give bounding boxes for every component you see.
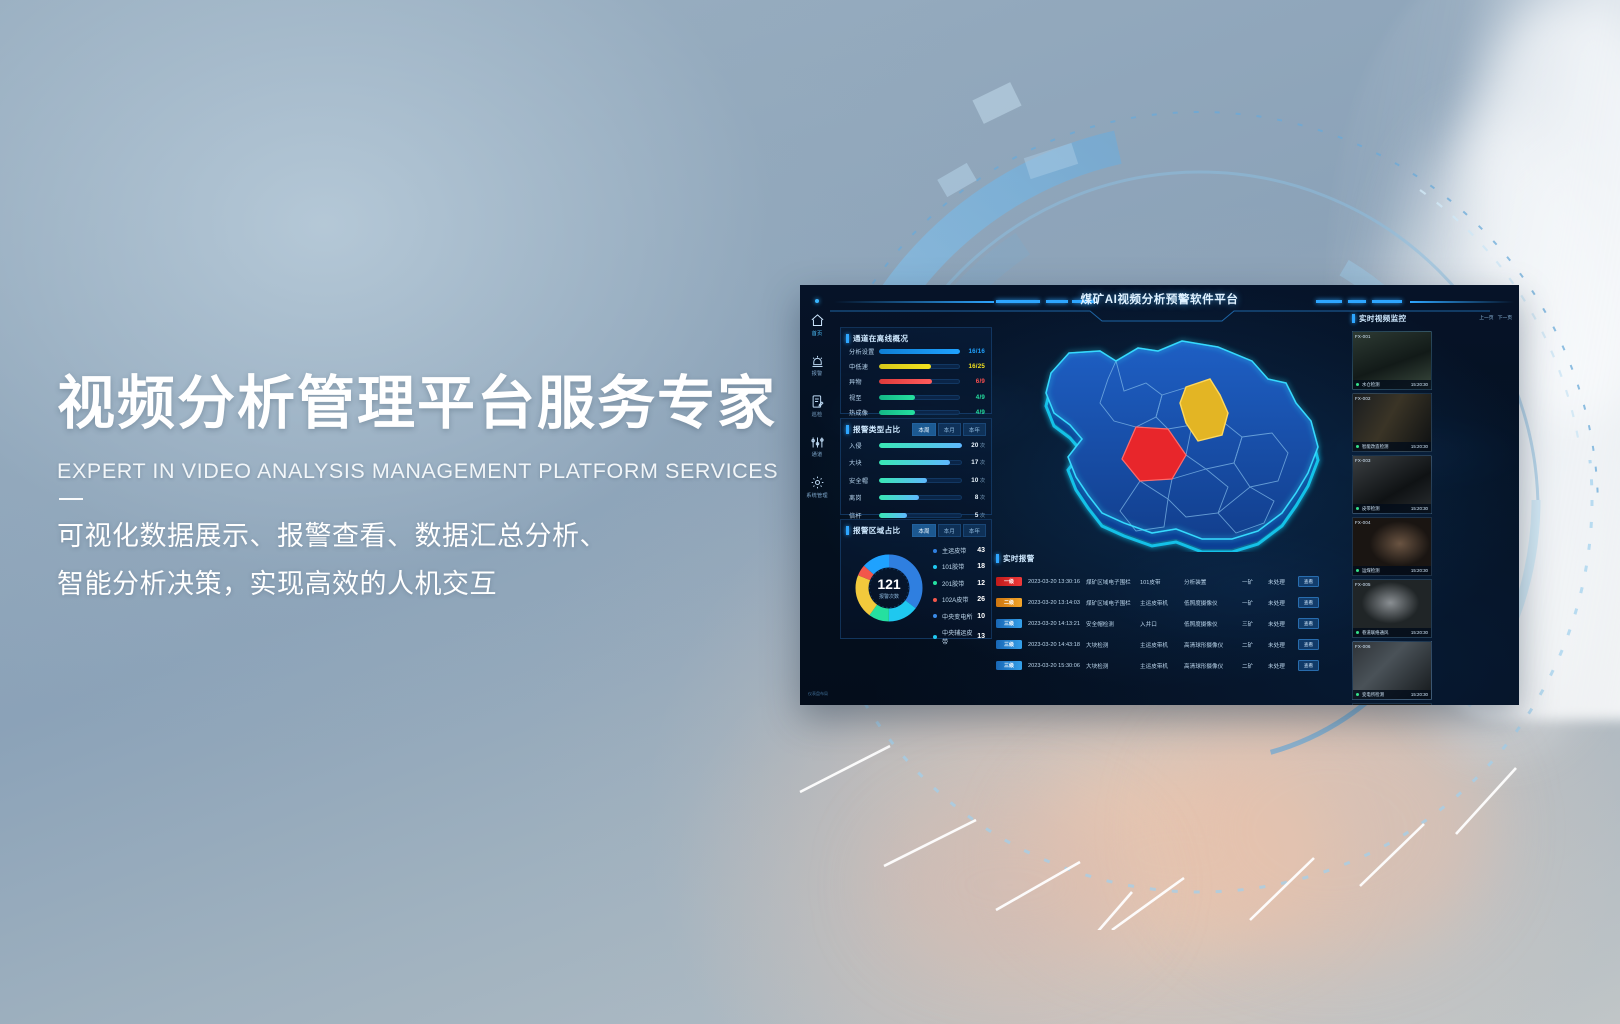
alarm-area-panel: 报警区域占比 本周 本月 本年 [840, 519, 992, 639]
channel-panel-title: 通道在离线概况 [846, 333, 991, 344]
channel-bar-row: 异物 6/9 [849, 377, 985, 386]
bar-track [879, 349, 960, 354]
page-subtitle: EXPERT IN VIDEO ANALYSIS MANAGEMENT PLAT… [57, 459, 817, 484]
legend-value: 43 [977, 547, 985, 554]
cell-channel: 主运皮带机 [1140, 599, 1184, 607]
legend-dot [933, 635, 937, 639]
alarm-type-row: 入侵 20 次 [849, 441, 985, 450]
bar-value: 6/9 [960, 378, 985, 385]
bar-track [879, 410, 960, 415]
map-svg [996, 317, 1341, 552]
legend-dot [933, 581, 937, 585]
cell-device: 低照度摄像仪 [1184, 599, 1242, 607]
bar-value: 10 [962, 477, 978, 484]
cell-time: 2023-03-20 14:13:21 [1028, 621, 1086, 627]
alarm-area-donut-chart: 121 报警次数 [851, 550, 927, 626]
video-cell-bar: 水仓检测 15:20:30 [1353, 380, 1431, 389]
online-status-dot [1356, 383, 1359, 386]
online-status-dot [1356, 507, 1359, 510]
alarm-type-row: 大块 17 次 [849, 458, 985, 467]
bar-value: 20 [962, 442, 978, 449]
alarm-total-count: 121 [877, 577, 900, 591]
table-row[interactable]: 三级 2023-03-20 14:13:21 安全帽检测 入井口 低照度摄像仪 … [996, 613, 1341, 634]
bar-label: 分析设置 [849, 347, 879, 356]
sidebar-item-system[interactable]: 系统管理 [800, 475, 834, 499]
video-cell-name: 皮带检测 [1362, 506, 1411, 512]
camera-id: FX-005 [1355, 582, 1371, 587]
hero-text-block: 视频分析管理平台服务专家 EXPERT IN VIDEO ANALYSIS MA… [57, 372, 817, 608]
inspection-icon [810, 394, 825, 409]
alarm-type-tabs: 本周 本月 本年 [912, 423, 986, 436]
cell-mine: 二矿 [1242, 662, 1268, 670]
view-button[interactable]: 查看 [1298, 576, 1319, 587]
alarm-type-bar-list: 入侵 20 次 大块 17 次 安全帽 10 次 [849, 441, 985, 520]
tab-week[interactable]: 本周 [912, 524, 935, 537]
dashboard-footer-mark: 仪表盘布局 [804, 691, 832, 697]
alarm-level-badge: 一级 [996, 577, 1022, 586]
view-button[interactable]: 查看 [1298, 618, 1319, 629]
alarm-total-label: 报警次数 [879, 593, 899, 600]
sidebar-label-alarm: 报警 [800, 370, 834, 377]
video-cell-bar: 变电所检测 15:20:30 [1353, 690, 1431, 699]
bar-unit: 次 [980, 494, 985, 501]
camera-id: FX-006 [1355, 644, 1371, 649]
cell-device: 高清球形摄像仪 [1184, 662, 1242, 670]
divider [59, 498, 83, 500]
hero-desc-line-2: 智能分析决策，实现高效的人机交互 [57, 560, 817, 608]
alarm-area-tabs: 本周 本月 本年 [912, 524, 986, 537]
bar-label: 安全帽 [849, 476, 879, 485]
bar-unit: 次 [980, 477, 985, 484]
realtime-alarm-table: 实时报警 一级 2023-03-20 13:30:16 煤矿区域电子围栏 101… [996, 553, 1341, 699]
legend-value: 26 [977, 596, 985, 603]
video-cell-name: 智能改造检测 [1362, 444, 1411, 450]
cell-channel: 主运皮带机 [1140, 641, 1184, 649]
table-row[interactable]: 一级 2023-03-20 13:30:16 煤矿区域电子围栏 101皮带 分析… [996, 571, 1341, 592]
camera-id: FX-004 [1355, 520, 1371, 525]
cell-type: 煤矿区域电子围栏 [1086, 599, 1140, 607]
cell-status: 未处理 [1268, 620, 1298, 628]
table-row[interactable]: 二级 2023-03-20 13:14:03 煤矿区域电子围栏 主运皮带机 低照… [996, 592, 1341, 613]
legend-item: 102A皮带 26 [933, 595, 985, 604]
video-cell-time: 15:20:30 [1411, 568, 1428, 573]
cell-status: 未处理 [1268, 578, 1298, 586]
sidebar-item-inspection[interactable]: 巡检 [800, 394, 834, 418]
bar-value: 4/9 [960, 409, 985, 416]
gear-icon [810, 475, 825, 490]
alarm-type-row: 安全帽 10 次 [849, 476, 985, 485]
province-map [996, 317, 1341, 552]
realtime-alarm-title: 实时报警 [996, 553, 1341, 564]
legend-label: 201胶带 [942, 579, 977, 588]
bar-unit: 次 [980, 442, 985, 449]
bar-track [879, 443, 962, 448]
dashboard-monitor: 煤矿AI视频分析预警软件平台 首页 报警 [800, 285, 1519, 705]
legend-value: 18 [977, 563, 985, 570]
bar-track [879, 395, 960, 400]
video-cell-name: 变电所检测 [1362, 692, 1411, 698]
online-status-dot [1356, 631, 1359, 634]
view-button[interactable]: 查看 [1298, 660, 1319, 671]
dashboard-screen: 煤矿AI视频分析预警软件平台 首页 报警 [800, 285, 1519, 705]
hand-blur-3 [880, 800, 1140, 970]
cell-time: 2023-03-20 13:30:16 [1028, 579, 1086, 585]
cell-channel: 101皮带 [1140, 578, 1184, 586]
legend-value: 10 [977, 613, 985, 620]
video-cell-bar: 巷道联络通风 15:20:30 [1353, 628, 1431, 637]
alarm-area-legend: 主运皮带 43 101胶带 18 201胶带 12 102A皮带 26 [933, 546, 985, 646]
bar-label: 视至 [849, 393, 879, 402]
sidebar-label-system: 系统管理 [800, 492, 834, 499]
legend-dot [933, 614, 937, 618]
cell-status: 未处理 [1268, 641, 1298, 649]
cell-device: 分析装置 [1184, 578, 1242, 586]
bar-label: 异物 [849, 377, 879, 386]
channel-icon [810, 435, 825, 450]
video-cell-time: 15:20:30 [1411, 382, 1428, 387]
channel-bar-row: 热成像 4/9 [849, 408, 985, 417]
view-button[interactable]: 查看 [1298, 639, 1319, 650]
table-row[interactable]: 三级 2023-03-20 14:43:18 大块检测 主运皮带机 高清球形摄像… [996, 634, 1341, 655]
bar-label: 入侵 [849, 441, 879, 450]
sidebar-label-channel: 通道 [800, 451, 834, 458]
cell-mine: 一矿 [1242, 599, 1268, 607]
alarm-level-badge: 三级 [996, 640, 1022, 649]
cell-time: 2023-03-20 14:43:18 [1028, 642, 1086, 648]
bar-value: 8 [962, 494, 978, 501]
tab-month[interactable]: 本月 [938, 524, 961, 537]
table-row[interactable]: 三级 2023-03-20 15:30:06 大块检测 主运皮带机 高清球形摄像… [996, 655, 1341, 676]
tab-year[interactable]: 本年 [963, 423, 986, 436]
legend-label: 101胶带 [942, 562, 977, 571]
cell-mine: 一矿 [1242, 578, 1268, 586]
tab-year[interactable]: 本年 [963, 524, 986, 537]
video-cell-bar: 运煤检测 15:20:30 [1353, 566, 1431, 575]
bar-value: 16/25 [960, 363, 985, 370]
hero-desc-line-1: 可视化数据展示、报警查看、数据汇总分析、 [57, 512, 817, 560]
dashboard-header: 煤矿AI视频分析预警软件平台 [800, 285, 1519, 321]
channel-bar-row: 视至 4/9 [849, 393, 985, 402]
video-cell[interactable]: FX-006 变电所检测 15:20:30 [1352, 641, 1432, 700]
camera-id: FX-003 [1355, 458, 1371, 463]
cell-time: 2023-03-20 13:14:03 [1028, 600, 1086, 606]
video-cell[interactable]: FX-007 掘进面检测 15:20:30 [1352, 703, 1432, 705]
bar-value: 16/16 [960, 348, 985, 355]
video-grid: FX-001 水仓检测 15:20:30 FX-002 智能改造检测 15:20… [1352, 331, 1514, 705]
legend-item: 中央变电所 10 [933, 612, 985, 621]
alarm-level-badge: 三级 [996, 619, 1022, 628]
channel-bar-row: 分析设置 16/16 [849, 347, 985, 356]
legend-dot [933, 549, 937, 553]
bar-label: 中低速 [849, 362, 879, 371]
cell-time: 2023-03-20 15:30:06 [1028, 663, 1086, 669]
legend-dot [933, 598, 937, 602]
online-status-dot [1356, 445, 1359, 448]
bar-value: 17 [962, 459, 978, 466]
sidebar-indicator-dot [815, 299, 819, 303]
channel-bar-row: 中低速 16/25 [849, 362, 985, 371]
camera-id: FX-002 [1355, 396, 1371, 401]
cell-channel: 主运皮带机 [1140, 662, 1184, 670]
cell-type: 大块检测 [1086, 641, 1140, 649]
legend-item: 中央辅运皮带 13 [933, 628, 985, 646]
alarm-level-badge: 二级 [996, 598, 1022, 607]
donut-center-label: 121 报警次数 [851, 550, 927, 626]
sidebar-item-channel[interactable]: 通道 [800, 435, 834, 459]
legend-item: 101胶带 18 [933, 562, 985, 571]
bar-track [879, 513, 962, 518]
legend-value: 13 [977, 633, 985, 640]
video-cell[interactable]: FX-004 运煤检测 15:20:30 [1352, 517, 1432, 576]
video-cell-bar: 智能改造检测 15:20:30 [1353, 442, 1431, 451]
video-cell-name: 巷道联络通风 [1362, 630, 1411, 636]
online-status-dot [1356, 693, 1359, 696]
bar-label: 离岗 [849, 493, 879, 502]
page-title: 视频分析管理平台服务专家 [57, 372, 817, 437]
bar-label: 热成像 [849, 408, 879, 417]
cell-status: 未处理 [1268, 662, 1298, 670]
tab-month[interactable]: 本月 [938, 423, 961, 436]
channel-bar-list: 分析设置 16/16 中低速 16/25 异物 6/9 视至 4 [849, 347, 985, 423]
cell-status: 未处理 [1268, 599, 1298, 607]
camera-id: FX-001 [1355, 334, 1371, 339]
bar-track [879, 478, 962, 483]
cell-mine: 三矿 [1242, 620, 1268, 628]
cell-type: 安全帽检测 [1086, 620, 1140, 628]
legend-item: 201胶带 12 [933, 579, 985, 588]
video-cell-bar: 皮带检测 15:20:30 [1353, 504, 1431, 513]
bar-unit: 次 [980, 512, 985, 519]
sidebar-item-alarm[interactable]: 报警 [800, 354, 834, 378]
view-button[interactable]: 查看 [1298, 597, 1319, 608]
cell-type: 大块检测 [1086, 662, 1140, 670]
cell-mine: 二矿 [1242, 641, 1268, 649]
bar-value: 4/9 [960, 394, 985, 401]
video-cell-name: 运煤检测 [1362, 568, 1411, 574]
legend-value: 12 [977, 580, 985, 587]
legend-dot [933, 565, 937, 569]
video-cell[interactable]: FX-003 皮带检测 15:20:30 [1352, 455, 1432, 514]
legend-item: 主运皮带 43 [933, 546, 985, 555]
legend-label: 中央辅运皮带 [942, 628, 977, 646]
cell-type: 煤矿区域电子围栏 [1086, 578, 1140, 586]
video-cell-name: 水仓检测 [1362, 382, 1411, 388]
legend-label: 102A皮带 [942, 595, 977, 604]
video-monitor-panel: 实时视频监控 上一页 下一页 FX-001 水仓检测 15:20:30 FX-0… [1352, 313, 1514, 699]
bar-track [879, 379, 960, 384]
tab-week[interactable]: 本周 [912, 423, 935, 436]
legend-label: 中央变电所 [942, 612, 977, 621]
cell-device: 高清球形摄像仪 [1184, 641, 1242, 649]
dashboard-sidebar: 首页 报警 巡检 通道 [800, 299, 834, 699]
video-cell[interactable]: FX-002 智能改造检测 15:20:30 [1352, 393, 1432, 452]
sidebar-item-home[interactable]: 首页 [800, 313, 834, 337]
video-cell[interactable]: FX-005 巷道联络通风 15:20:30 [1352, 579, 1432, 638]
video-cell-time: 15:20:30 [1411, 630, 1428, 635]
dashboard-title: 煤矿AI视频分析预警软件平台 [800, 291, 1519, 307]
alarm-type-panel: 报警类型占比 本周 本月 本年 入侵 20 次 大块 17 次 [840, 418, 992, 515]
legend-label: 主运皮带 [942, 546, 977, 555]
video-cell-time: 15:20:30 [1411, 692, 1428, 697]
sidebar-label-home: 首页 [800, 330, 834, 337]
bar-track [879, 460, 962, 465]
cell-channel: 入井口 [1140, 620, 1184, 628]
home-icon [810, 313, 825, 328]
bar-unit: 次 [980, 459, 985, 466]
alarm-type-row: 离岗 8 次 [849, 493, 985, 502]
video-cell[interactable]: FX-001 水仓检测 15:20:30 [1352, 331, 1432, 390]
cell-device: 低照度摄像仪 [1184, 620, 1242, 628]
video-cell-time: 15:20:30 [1411, 506, 1428, 511]
alarm-level-badge: 三级 [996, 661, 1022, 670]
bar-track [879, 364, 960, 369]
video-cell-time: 15:20:30 [1411, 444, 1428, 449]
channel-status-panel: 通道在离线概况 分析设置 16/16 中低速 16/25 异物 6/9 [840, 327, 992, 414]
bar-value: 5 [962, 512, 978, 519]
hand-blur-2 [1170, 700, 1490, 960]
online-status-dot [1356, 569, 1359, 572]
alarm-icon [810, 354, 825, 369]
sidebar-label-inspection: 巡检 [800, 411, 834, 418]
bar-track [879, 495, 962, 500]
bar-label: 大块 [849, 458, 879, 467]
